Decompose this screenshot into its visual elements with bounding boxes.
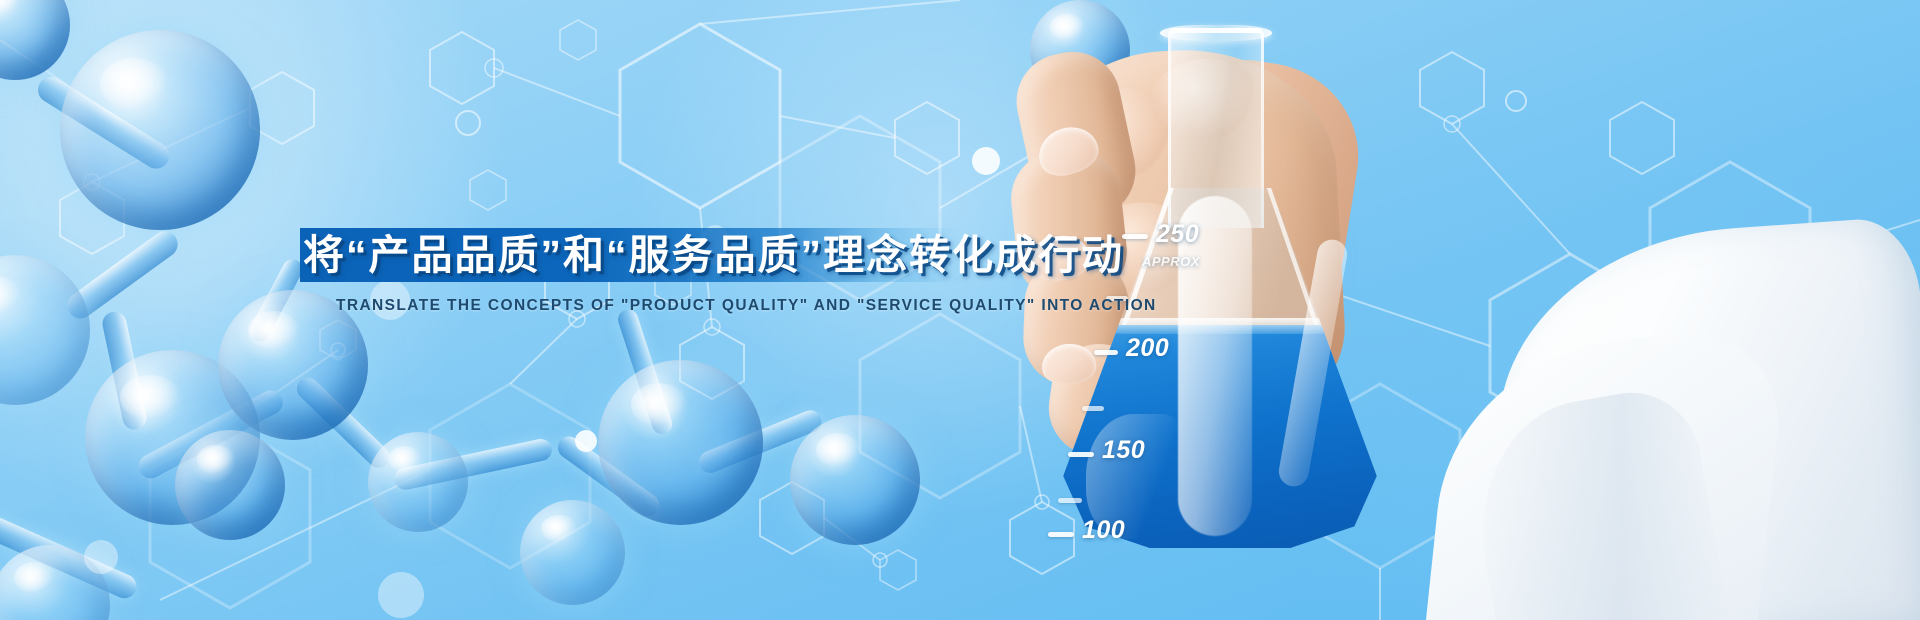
page-title: 将“产品品质”和“服务品质”理念转化成行动 [303,224,1063,286]
bokeh-dot [575,430,597,452]
bokeh-ring [455,110,481,136]
page-subtitle: TRANSLATE THE CONCEPTS OF "PRODUCT QUALI… [336,297,1157,315]
flask-tick-minor [1058,498,1082,503]
bokeh-dot [84,540,118,574]
flask-tick-minor [1082,406,1104,411]
flask-tick-100 [1048,532,1074,537]
flask-tick-200 [1094,350,1118,355]
flask-tick-150 [1068,452,1094,457]
flask-label-100: 100 [1082,516,1125,545]
erlenmeyer-flask: 250 APPROX 200 150 100 [1060,28,1380,548]
flask-label-150: 150 [1102,436,1145,465]
flask-tick-250 [1122,234,1148,239]
hero-banner: 250 APPROX 200 150 100 将“产品品质”和“服务品质”理念转… [0,0,1920,620]
flask-label-approx: APPROX [1142,254,1200,269]
flask-label-200: 200 [1126,334,1169,363]
flask-label-250: 250 [1156,220,1199,249]
bokeh-dot [378,572,424,618]
